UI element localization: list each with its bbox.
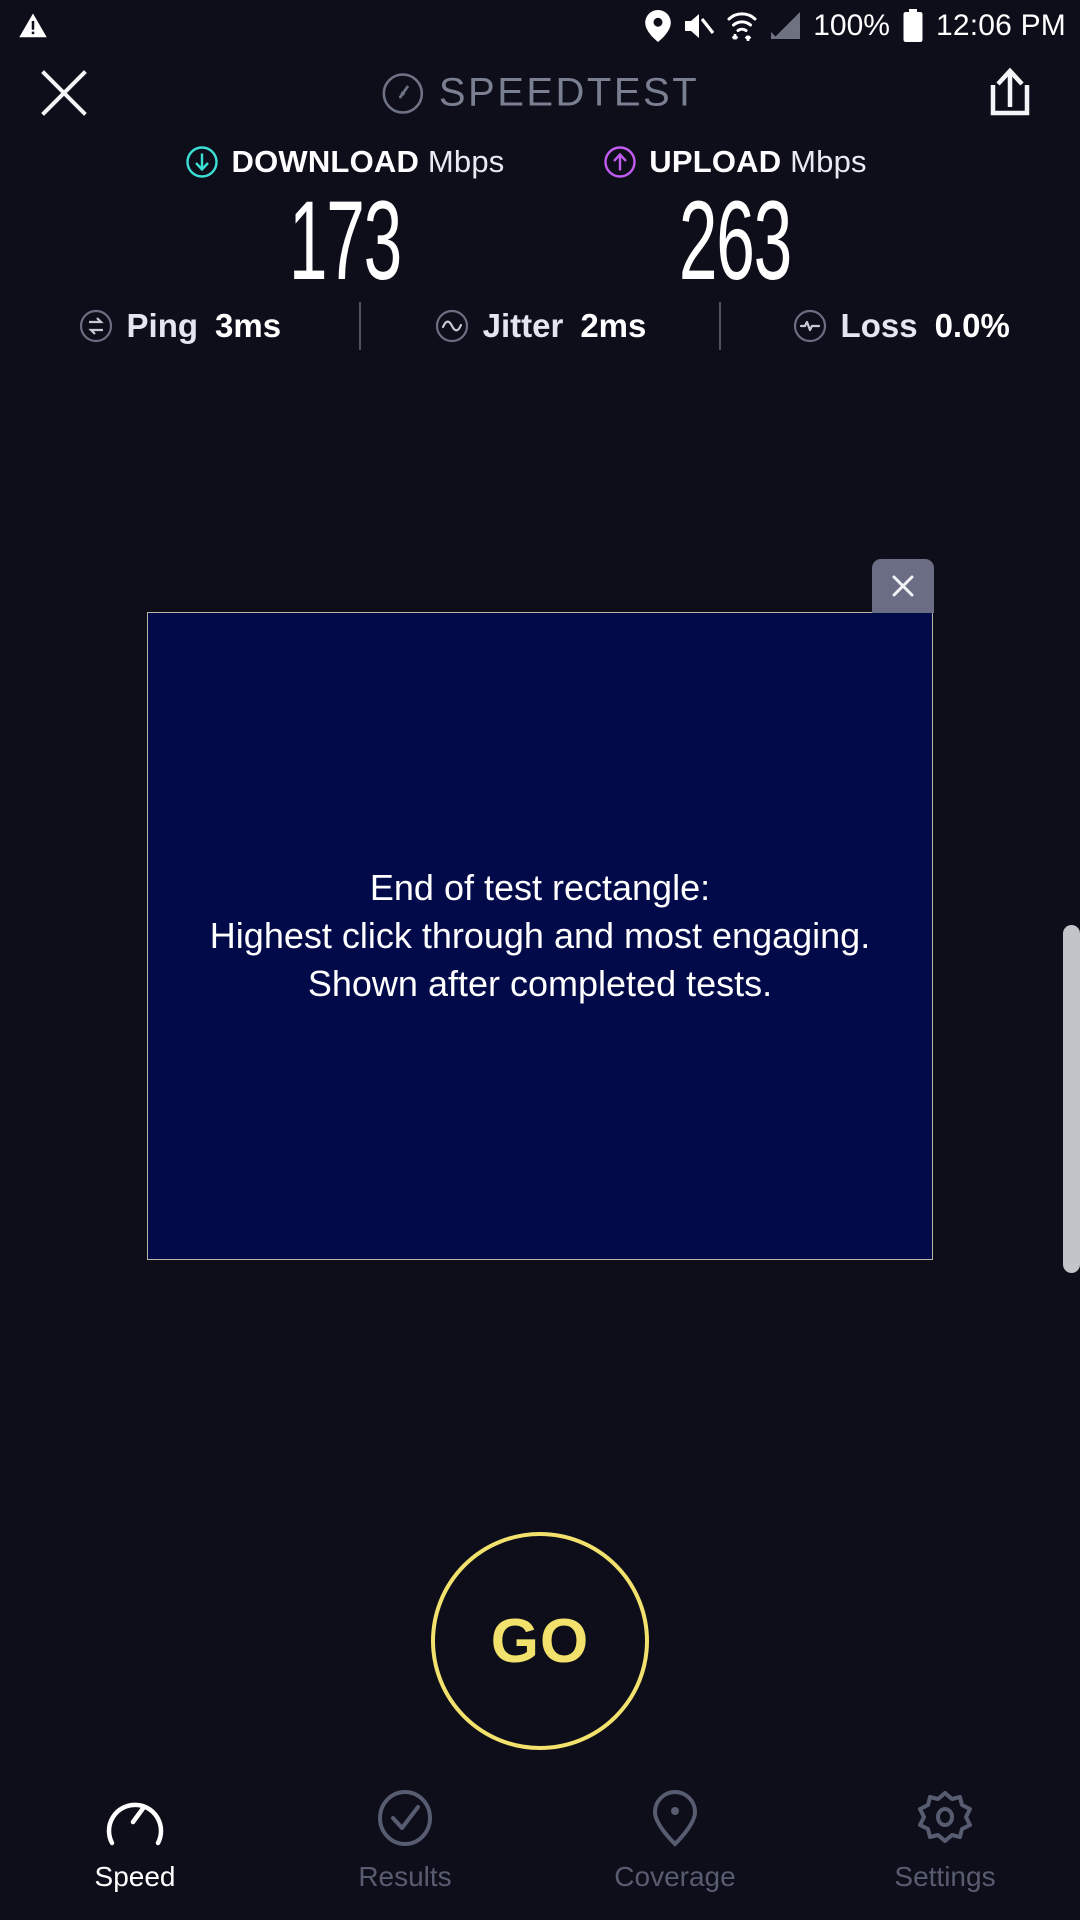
metric-ping-label: Ping (127, 307, 199, 345)
app-header: SPEEDTEST (0, 52, 1080, 134)
battery-percent-label: 100% (813, 9, 890, 43)
go-button-label: GO (491, 1606, 589, 1677)
ad-close-button[interactable] (872, 559, 934, 613)
brand-title: SPEEDTEST (439, 71, 699, 116)
gear-icon (914, 1789, 976, 1847)
battery-full-icon (902, 9, 924, 43)
wifi-icon (727, 10, 757, 42)
nav-item-speed[interactable]: Speed (0, 1775, 270, 1920)
arrow-up-circle-icon (603, 145, 637, 179)
advertisement[interactable]: End of test rectangle: Highest click thr… (147, 612, 933, 1260)
metrics-row: Ping 3ms Jitter 2ms Loss 0.0 (0, 302, 1080, 350)
metric-ping: Ping 3ms (0, 307, 359, 345)
nav-label-results: Results (358, 1861, 451, 1893)
brand-logo: SPEEDTEST (381, 71, 699, 116)
speedometer-icon (104, 1789, 166, 1847)
loss-icon (792, 308, 828, 344)
share-button[interactable] (984, 65, 1036, 121)
download-result: DOWNLOAD Mbps 173 (155, 140, 535, 300)
ad-text-line-2: Highest click through and most engaging. (210, 912, 870, 960)
clock-label: 12:06 PM (936, 9, 1066, 43)
arrow-down-circle-icon (185, 145, 219, 179)
ad-text-line-3: Shown after completed tests. (210, 960, 870, 1008)
bottom-navigation: Speed Results Coverage (0, 1775, 1080, 1920)
volume-muted-icon (683, 11, 715, 41)
location-pin-icon (644, 1789, 706, 1847)
ad-creative[interactable]: End of test rectangle: Highest click thr… (147, 612, 933, 1260)
results-summary: DOWNLOAD Mbps 173 UPLOAD Mbps 263 (0, 140, 1080, 300)
nav-label-speed: Speed (95, 1861, 176, 1893)
scrollbar-thumb[interactable] (1063, 925, 1080, 1273)
location-pin-icon (645, 10, 671, 42)
metric-loss-value: 0.0% (935, 307, 1010, 345)
status-bar-right: 100% 12:06 PM (645, 9, 1066, 43)
ad-text-line-1: End of test rectangle: (210, 864, 870, 912)
nav-item-settings[interactable]: Settings (810, 1775, 1080, 1920)
speedometer-icon (381, 71, 425, 115)
metric-loss: Loss 0.0% (721, 307, 1080, 345)
nav-label-settings: Settings (894, 1861, 995, 1893)
upload-label: UPLOAD Mbps (649, 144, 867, 180)
nav-item-results[interactable]: Results (270, 1775, 540, 1920)
download-value: 173 (227, 182, 463, 300)
metric-ping-value: 3ms (215, 307, 281, 345)
download-label: DOWNLOAD Mbps (231, 144, 504, 180)
metric-loss-label: Loss (841, 307, 918, 345)
warning-triangle-icon (18, 11, 48, 41)
jitter-icon (434, 308, 470, 344)
status-bar: 100% 12:06 PM (0, 0, 1080, 52)
ping-icon (78, 308, 114, 344)
nav-item-coverage[interactable]: Coverage (540, 1775, 810, 1920)
go-button[interactable]: GO (431, 1532, 649, 1750)
upload-result: UPLOAD Mbps 263 (545, 140, 925, 300)
metric-jitter: Jitter 2ms (361, 307, 720, 345)
close-button[interactable] (36, 65, 92, 121)
speedtest-app-screen: 100% 12:06 PM SP (0, 0, 1080, 1920)
cellular-signal-icon (769, 11, 801, 41)
metric-jitter-label: Jitter (483, 307, 564, 345)
metric-jitter-value: 2ms (580, 307, 646, 345)
nav-label-coverage: Coverage (614, 1861, 735, 1893)
status-bar-left (18, 11, 48, 41)
check-circle-icon (374, 1789, 436, 1847)
ad-text: End of test rectangle: Highest click thr… (210, 864, 870, 1008)
results-row: DOWNLOAD Mbps 173 UPLOAD Mbps 263 (0, 140, 1080, 300)
upload-value: 263 (617, 182, 853, 300)
